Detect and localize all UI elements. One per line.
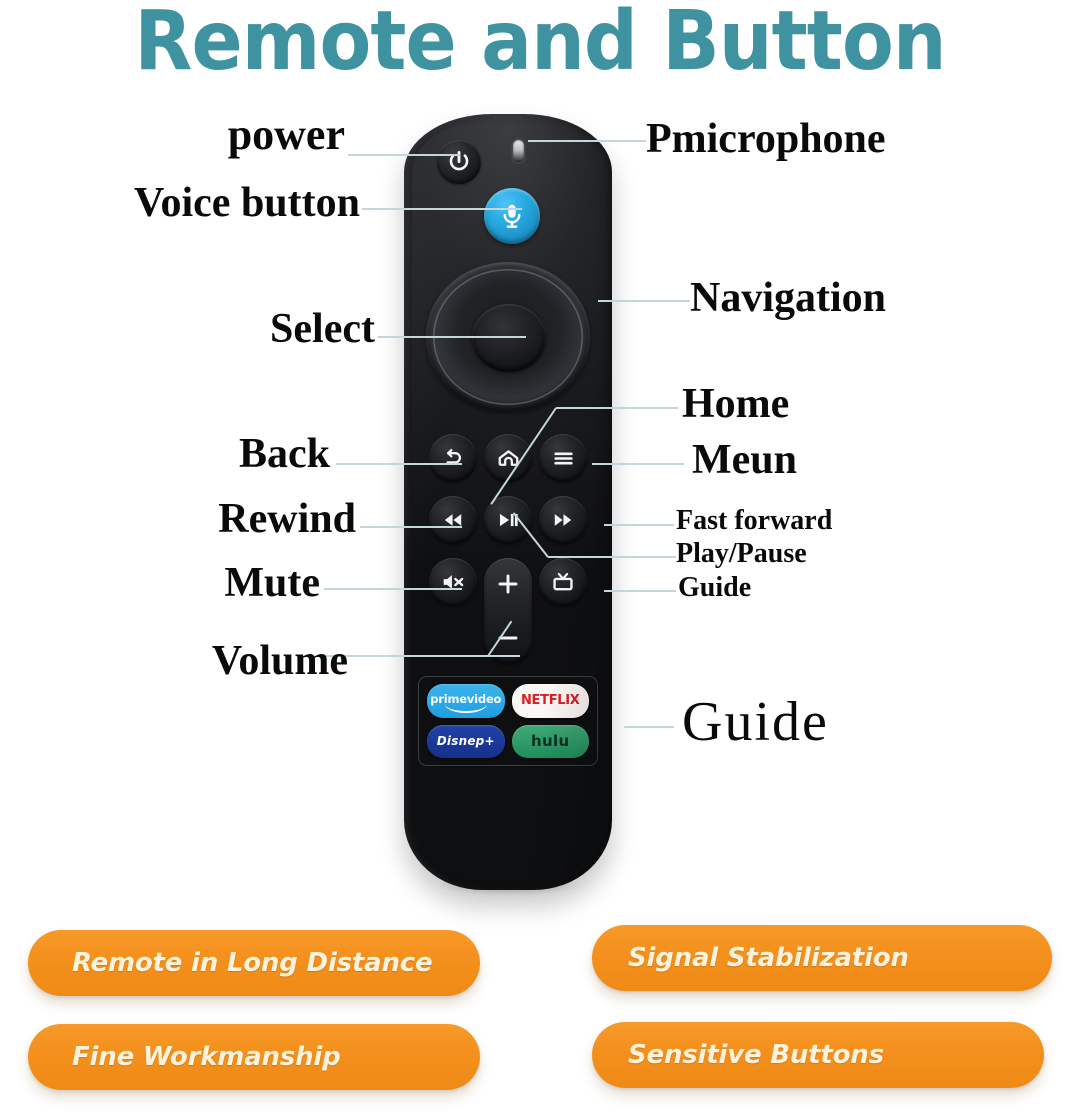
label-fast-forward: Fast forward (676, 507, 832, 535)
mute-button[interactable] (429, 558, 477, 606)
feature-badge-sensitive-buttons: Sensitive Buttons (592, 1022, 1044, 1088)
fast-forward-icon (550, 507, 576, 533)
voice-button[interactable] (484, 188, 540, 244)
back-button[interactable] (429, 434, 477, 482)
leader-line-fast-forward (604, 524, 674, 526)
microphone-icon (497, 201, 527, 231)
feature-badge-label: Fine Workmanship (72, 1042, 341, 1072)
label-home: Home (682, 383, 789, 425)
prime-smile-icon (445, 704, 487, 713)
feature-badge-remote-in-long-distance: Remote in Long Distance (28, 930, 480, 996)
power-button[interactable] (437, 140, 481, 184)
hulu-button[interactable]: hulu (512, 725, 590, 759)
label-back: Back (0, 433, 330, 475)
menu-button[interactable] (539, 434, 587, 482)
label-voice-button: Voice button (0, 182, 360, 224)
rewind-icon (440, 507, 466, 533)
label-select: Select (0, 308, 375, 350)
back-arrow-icon (441, 446, 465, 470)
leader-line-guide (604, 590, 676, 592)
feature-badge-label: Signal Stabilization (628, 943, 909, 973)
poster-canvas: Remote and Button (0, 0, 1080, 1112)
label-mute: Mute (0, 562, 320, 604)
feature-badge-label: Remote in Long Distance (72, 948, 432, 978)
leader-line-volume (320, 655, 520, 657)
label-power: power (0, 113, 345, 157)
disney-plus-label: Disnep+ (437, 734, 495, 748)
label-volume: Volume (0, 640, 348, 682)
guide-button[interactable] (539, 558, 587, 606)
select-button[interactable] (472, 304, 546, 372)
microphone-led-indicator (513, 140, 524, 162)
feature-badge-signal-stabilization: Signal Stabilization (592, 925, 1052, 991)
hamburger-menu-icon (551, 446, 576, 471)
leader-line-mute (324, 588, 462, 590)
label-rewind: Rewind (0, 498, 356, 540)
mute-speaker-icon (440, 569, 466, 595)
netflix-label: NETFLIX (521, 693, 580, 708)
feature-badge-label: Sensitive Buttons (628, 1040, 884, 1070)
label-navigation: Navigation (690, 277, 886, 319)
power-icon (446, 149, 472, 175)
leader-line-rewind (360, 526, 462, 528)
leader-line-guide-large (624, 726, 674, 728)
label-guide-small: Guide (678, 574, 751, 602)
hulu-label: hulu (531, 732, 569, 750)
netflix-button[interactable]: NETFLIX (512, 684, 590, 718)
leader-line-pmicrophone (528, 140, 646, 142)
label-play-pause: Play/Pause (676, 540, 807, 568)
prime-video-button[interactable]: primevideo (427, 684, 505, 718)
tv-guide-icon (550, 569, 576, 595)
leader-line-select (378, 336, 526, 338)
label-pmicrophone: Pmicrophone (646, 118, 886, 160)
leader-line-back (336, 463, 462, 465)
fire-tv-remote: primevideo NETFLIX Disnep+ hulu (404, 114, 612, 890)
disney-plus-button[interactable]: Disnep+ (427, 725, 505, 759)
leader-line-voice (362, 208, 522, 210)
label-meun: Meun (692, 439, 797, 481)
leader-line-meun (592, 463, 684, 465)
leader-line-power (348, 154, 460, 156)
fast-forward-button[interactable] (539, 496, 587, 544)
leader-line-navigation (598, 300, 690, 302)
label-guide-large: Guide (682, 694, 829, 750)
app-shortcut-group: primevideo NETFLIX Disnep+ hulu (418, 676, 598, 766)
page-title: Remote and Button (43, 0, 1037, 89)
leader-line-home (556, 407, 678, 409)
home-button[interactable] (484, 434, 532, 482)
leader-line-play-pause (548, 556, 676, 558)
plus-icon[interactable] (495, 571, 521, 597)
rewind-button[interactable] (429, 496, 477, 544)
feature-badge-fine-workmanship: Fine Workmanship (28, 1024, 480, 1090)
